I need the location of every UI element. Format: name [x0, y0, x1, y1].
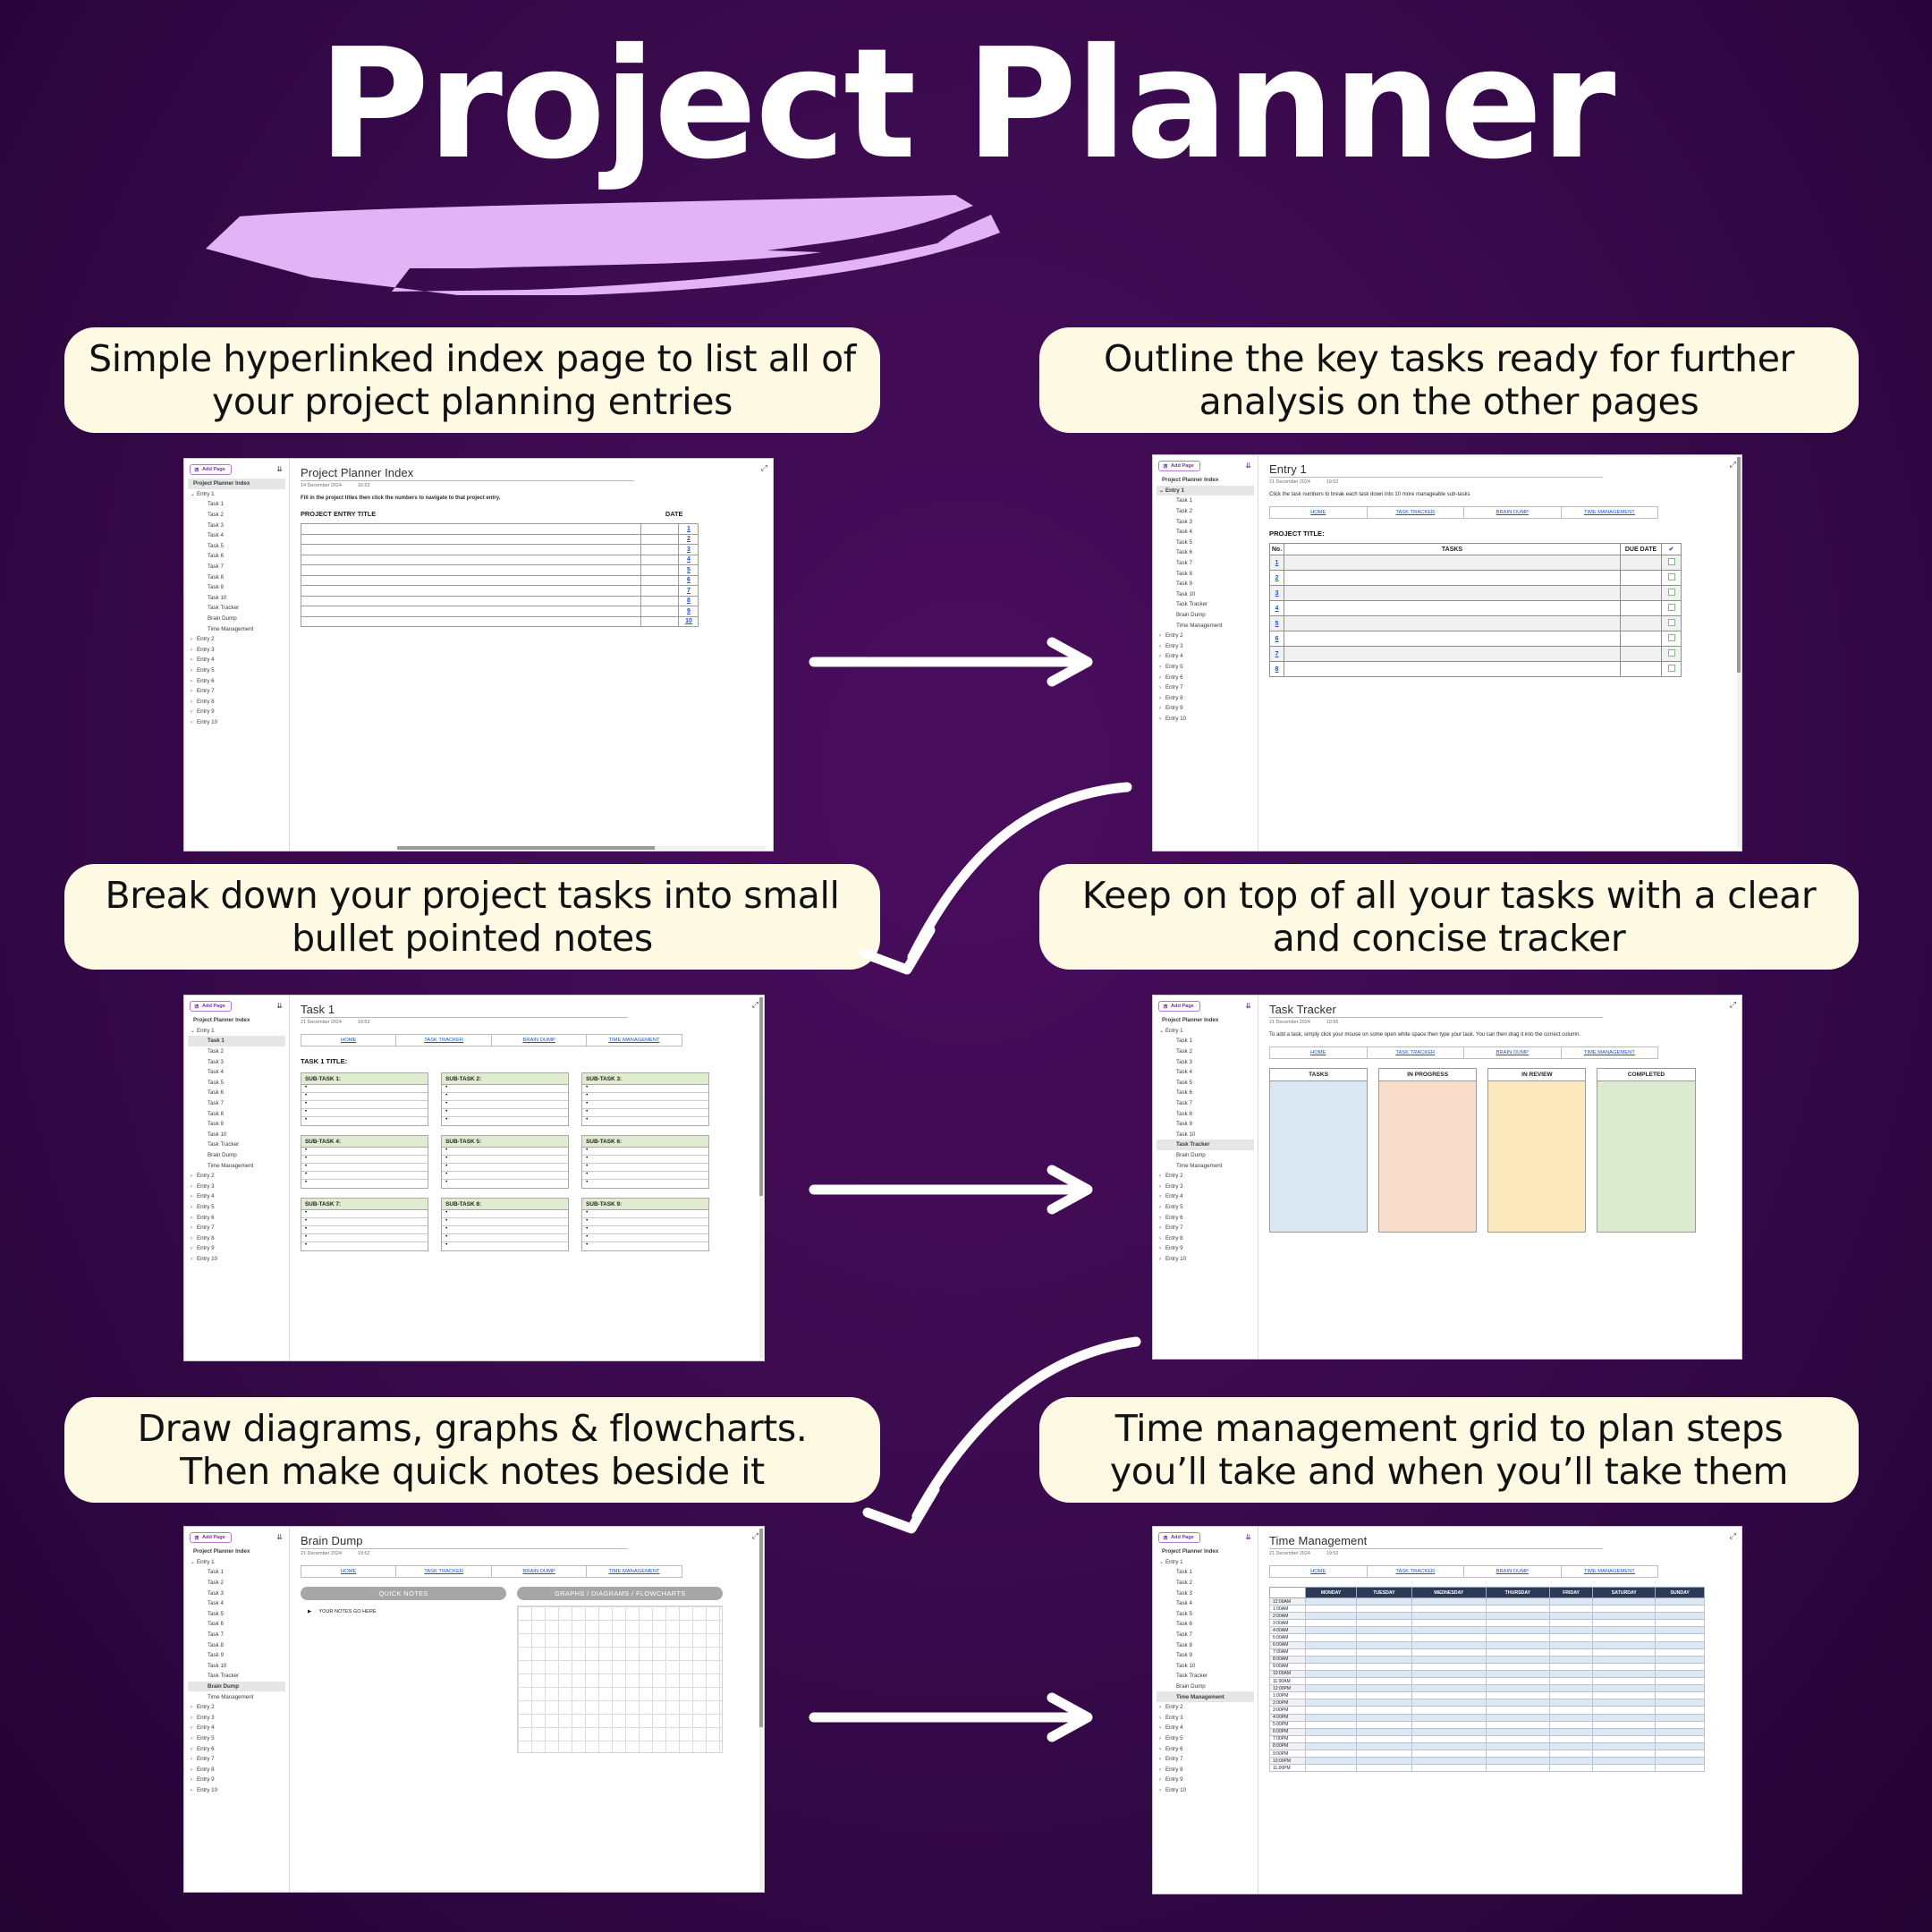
- date-cell[interactable]: [641, 575, 679, 586]
- slot-cell[interactable]: [1593, 1641, 1656, 1648]
- slot-cell[interactable]: [1486, 1765, 1549, 1772]
- slot-cell[interactable]: [1357, 1598, 1411, 1606]
- slot-cell[interactable]: [1486, 1634, 1549, 1641]
- slot-cell[interactable]: [1411, 1634, 1486, 1641]
- sidebar-item-project-planner-index[interactable]: Project Planner Index: [1157, 475, 1254, 486]
- sidebar-item-entry-8[interactable]: ›Entry 8: [1157, 1764, 1254, 1775]
- chevron-icon[interactable]: ›: [191, 636, 197, 642]
- slot-cell[interactable]: [1357, 1742, 1411, 1750]
- vertical-scrollbar[interactable]: [759, 997, 763, 1359]
- sidebar-item-entry-9[interactable]: ›Entry 9: [188, 707, 285, 717]
- slot-cell[interactable]: [1357, 1750, 1411, 1757]
- sidebar-item-task-tracker[interactable]: Task Tracker: [1157, 599, 1254, 610]
- sidebar-item-task-6[interactable]: Task 6: [1157, 547, 1254, 558]
- slot-cell[interactable]: [1411, 1721, 1486, 1728]
- subtask-bullet-row[interactable]: •: [582, 1172, 708, 1180]
- index-link-1[interactable]: 1: [679, 524, 699, 535]
- chevron-icon[interactable]: ›: [191, 1746, 197, 1752]
- slot-cell[interactable]: [1656, 1663, 1705, 1670]
- slot-cell[interactable]: [1549, 1663, 1592, 1670]
- sidebar-item-task-5[interactable]: Task 5: [188, 1609, 285, 1620]
- slot-cell[interactable]: [1656, 1728, 1705, 1735]
- slot-cell[interactable]: [1593, 1627, 1656, 1634]
- sidebar-item-entry-5[interactable]: ›Entry 5: [188, 1733, 285, 1744]
- slot-cell[interactable]: [1357, 1620, 1411, 1627]
- slot-cell[interactable]: [1411, 1707, 1486, 1714]
- subtask-bullet-row[interactable]: •: [301, 1180, 428, 1188]
- date-cell[interactable]: [641, 534, 679, 545]
- sidebar-item-task-3[interactable]: Task 3: [188, 520, 285, 530]
- due-date-cell[interactable]: [1621, 647, 1662, 662]
- slot-cell[interactable]: [1656, 1641, 1705, 1648]
- task-cell[interactable]: [1284, 555, 1621, 571]
- subtask-bullet-row[interactable]: •: [442, 1210, 568, 1218]
- sidebar-item-project-planner-index[interactable]: Project Planner Index: [188, 1546, 285, 1557]
- sidebar-item-task-tracker[interactable]: Task Tracker: [188, 1671, 285, 1682]
- sidebar-item-task-3[interactable]: Task 3: [188, 1588, 285, 1598]
- task-number-link-3[interactable]: 3: [1270, 586, 1284, 601]
- nav-link-brain-dump[interactable]: BRAIN DUMP: [522, 1569, 555, 1574]
- sidebar-item-entry-9[interactable]: ›Entry 9: [1157, 1243, 1254, 1254]
- chevron-icon[interactable]: ›: [191, 699, 197, 705]
- due-date-cell[interactable]: [1621, 662, 1662, 677]
- nav-link-brain-dump[interactable]: BRAIN DUMP: [522, 1038, 555, 1043]
- nav-link-home[interactable]: HOME: [1310, 1050, 1326, 1055]
- subtask-bullet-row[interactable]: •: [442, 1093, 568, 1101]
- subtask-bullet-row[interactable]: •: [301, 1093, 428, 1101]
- slot-cell[interactable]: [1549, 1765, 1592, 1772]
- sidebar-item-entry-10[interactable]: ›Entry 10: [188, 1785, 285, 1796]
- tracker-dropzone[interactable]: [1597, 1081, 1694, 1232]
- expand-icon[interactable]: ⤢: [1730, 1531, 1736, 1541]
- slot-cell[interactable]: [1486, 1707, 1549, 1714]
- subtask-bullet-row[interactable]: •: [301, 1148, 428, 1156]
- table-row[interactable]: 1: [301, 524, 699, 535]
- subtask-bullet-row[interactable]: •: [301, 1172, 428, 1180]
- sidebar-item-entry-9[interactable]: ›Entry 9: [1157, 1775, 1254, 1785]
- task-cell[interactable]: [1284, 571, 1621, 586]
- sidebar-item-entry-4[interactable]: ›Entry 4: [188, 1723, 285, 1733]
- slot-cell[interactable]: [1549, 1728, 1592, 1735]
- add-page-button[interactable]: Add Page: [190, 1532, 232, 1543]
- chevron-icon[interactable]: ›: [191, 688, 197, 694]
- checkbox-cell[interactable]: [1662, 631, 1682, 647]
- slot-cell[interactable]: [1357, 1714, 1411, 1721]
- checkbox[interactable]: [1668, 573, 1675, 580]
- chevron-icon[interactable]: ›: [1159, 1715, 1165, 1721]
- subtask-card[interactable]: SUB-TASK 8:•••••: [441, 1198, 569, 1251]
- nav-link-home[interactable]: HOME: [341, 1569, 356, 1574]
- subtask-bullet-row[interactable]: •: [442, 1234, 568, 1242]
- sidebar-item-entry-3[interactable]: ›Entry 3: [1157, 1182, 1254, 1192]
- chevron-icon[interactable]: ›: [1159, 664, 1165, 670]
- sidebar-item-task-tracker[interactable]: Task Tracker: [1157, 1671, 1254, 1682]
- sidebar-item-brain-dump[interactable]: Brain Dump: [188, 1682, 285, 1692]
- sidebar-item-entry-3[interactable]: ›Entry 3: [1157, 641, 1254, 652]
- subtask-bullet-row[interactable]: •: [442, 1242, 568, 1250]
- slot-cell[interactable]: [1549, 1656, 1592, 1663]
- nav-link-time-management[interactable]: TIME MANAGEMENT: [609, 1569, 660, 1574]
- sidebar-item-entry-10[interactable]: ›Entry 10: [1157, 1785, 1254, 1796]
- time-management-grid[interactable]: MONDAYTUESDAYWEDNESDAYTHURSDAYFRIDAYSATU…: [1269, 1587, 1705, 1772]
- slot-cell[interactable]: [1486, 1648, 1549, 1656]
- slot-cell[interactable]: [1593, 1742, 1656, 1750]
- nav-link-task-tracker[interactable]: TASK TRACKER: [1395, 1050, 1435, 1055]
- subtask-bullet-row[interactable]: •: [582, 1210, 708, 1218]
- slot-cell[interactable]: [1357, 1678, 1411, 1685]
- chevron-icon[interactable]: ⌄: [191, 1028, 197, 1034]
- nav-link-time-management[interactable]: TIME MANAGEMENT: [1584, 510, 1635, 515]
- sidebar-item-task-tracker[interactable]: Task Tracker: [1157, 1140, 1254, 1150]
- subtask-bullet-row[interactable]: •: [301, 1085, 428, 1093]
- sidebar-item-entry-4[interactable]: ›Entry 4: [188, 655, 285, 665]
- table-row[interactable]: 8: [1270, 662, 1682, 677]
- subtask-bullet-row[interactable]: •: [582, 1101, 708, 1109]
- chevron-icon[interactable]: ›: [191, 1735, 197, 1741]
- slot-cell[interactable]: [1306, 1750, 1357, 1757]
- chevron-icon[interactable]: ›: [1159, 705, 1165, 711]
- slot-cell[interactable]: [1486, 1598, 1549, 1606]
- vertical-scrollbar[interactable]: [1737, 457, 1741, 849]
- slot-cell[interactable]: [1486, 1606, 1549, 1613]
- slot-cell[interactable]: [1656, 1742, 1705, 1750]
- subtask-card[interactable]: SUB-TASK 4:•••••: [301, 1135, 428, 1189]
- slot-cell[interactable]: [1357, 1728, 1411, 1735]
- subtask-card[interactable]: SUB-TASK 7:•••••: [301, 1198, 428, 1251]
- expand-icon[interactable]: ⤢: [752, 1000, 758, 1010]
- tracker-column-in-review[interactable]: IN REVIEW: [1487, 1068, 1586, 1233]
- slot-cell[interactable]: [1549, 1620, 1592, 1627]
- nav-link-home[interactable]: HOME: [341, 1038, 356, 1043]
- slot-cell[interactable]: [1411, 1648, 1486, 1656]
- slot-cell[interactable]: [1357, 1692, 1411, 1699]
- sidebar-item-task-tracker[interactable]: Task Tracker: [188, 603, 285, 614]
- nav-cell[interactable]: TIME MANAGEMENT: [1562, 507, 1658, 518]
- slot-cell[interactable]: [1593, 1598, 1656, 1606]
- sidebar-item-task-7[interactable]: Task 7: [1157, 1630, 1254, 1640]
- slot-cell[interactable]: [1593, 1728, 1656, 1735]
- sidebar-item-entry-6[interactable]: ›Entry 6: [1157, 1212, 1254, 1223]
- sidebar-item-task-7[interactable]: Task 7: [1157, 558, 1254, 569]
- slot-cell[interactable]: [1357, 1721, 1411, 1728]
- date-cell[interactable]: [641, 596, 679, 606]
- slot-cell[interactable]: [1549, 1735, 1592, 1742]
- slot-cell[interactable]: [1411, 1714, 1486, 1721]
- slot-cell[interactable]: [1357, 1663, 1411, 1670]
- nav-cell[interactable]: BRAIN DUMP: [1464, 1047, 1562, 1058]
- sidebar-item-entry-6[interactable]: ›Entry 6: [188, 1212, 285, 1223]
- slot-cell[interactable]: [1411, 1692, 1486, 1699]
- slot-cell[interactable]: [1486, 1670, 1549, 1677]
- subtask-bullet-row[interactable]: •: [582, 1109, 708, 1117]
- subtask-bullet-row[interactable]: •: [301, 1109, 428, 1117]
- subtask-bullet-row[interactable]: •: [582, 1117, 708, 1125]
- sidebar-item-entry-2[interactable]: ›Entry 2: [1157, 1702, 1254, 1713]
- chevron-icon[interactable]: ›: [1159, 1704, 1165, 1710]
- subtask-bullet-row[interactable]: •: [301, 1218, 428, 1226]
- nav-link-task-tracker[interactable]: TASK TRACKER: [424, 1038, 463, 1043]
- slot-cell[interactable]: [1357, 1606, 1411, 1613]
- slot-cell[interactable]: [1411, 1735, 1486, 1742]
- tracker-dropzone[interactable]: [1270, 1081, 1367, 1232]
- subtask-bullet-row[interactable]: •: [301, 1210, 428, 1218]
- sidebar-item-entry-4[interactable]: ›Entry 4: [1157, 1723, 1254, 1733]
- sort-icon[interactable]: ⇊: [276, 1003, 283, 1010]
- slot-cell[interactable]: [1593, 1613, 1656, 1620]
- slot-cell[interactable]: [1549, 1678, 1592, 1685]
- nav-cell[interactable]: TIME MANAGEMENT: [587, 1035, 681, 1046]
- nav-link-brain-dump[interactable]: BRAIN DUMP: [1496, 1050, 1529, 1055]
- chevron-icon[interactable]: ›: [191, 678, 197, 684]
- task-cell[interactable]: [1284, 601, 1621, 616]
- slot-cell[interactable]: [1593, 1678, 1656, 1685]
- subtask-card[interactable]: SUB-TASK 6:•••••: [581, 1135, 709, 1189]
- slot-cell[interactable]: [1357, 1699, 1411, 1707]
- slot-cell[interactable]: [1486, 1678, 1549, 1685]
- slot-cell[interactable]: [1357, 1670, 1411, 1677]
- add-page-button[interactable]: Add Page: [190, 1001, 232, 1012]
- nav-link-time-management[interactable]: TIME MANAGEMENT: [1584, 1569, 1635, 1574]
- nav-cell[interactable]: TIME MANAGEMENT: [1562, 1047, 1658, 1058]
- sidebar-item-task-1[interactable]: Task 1: [188, 499, 285, 510]
- sidebar-item-entry-1[interactable]: ⌄Entry 1: [188, 489, 285, 500]
- index-link-9[interactable]: 9: [679, 606, 699, 617]
- slot-cell[interactable]: [1357, 1648, 1411, 1656]
- table-row[interactable]: 6: [1270, 631, 1682, 647]
- subtask-bullet-row[interactable]: •: [582, 1226, 708, 1234]
- slot-cell[interactable]: [1306, 1685, 1357, 1692]
- chevron-icon[interactable]: ›: [191, 647, 197, 653]
- sidebar-item-entry-10[interactable]: ›Entry 10: [1157, 714, 1254, 724]
- table-row[interactable]: 9: [301, 606, 699, 617]
- slot-cell[interactable]: [1656, 1598, 1705, 1606]
- sidebar-item-entry-7[interactable]: ›Entry 7: [1157, 1754, 1254, 1765]
- sidebar-item-entry-2[interactable]: ›Entry 2: [188, 1171, 285, 1182]
- table-row[interactable]: 2: [1270, 571, 1682, 586]
- slot-cell[interactable]: [1549, 1742, 1592, 1750]
- tracker-dropzone[interactable]: [1488, 1081, 1585, 1232]
- slot-cell[interactable]: [1306, 1714, 1357, 1721]
- index-link-6[interactable]: 6: [679, 575, 699, 586]
- index-link-8[interactable]: 8: [679, 596, 699, 606]
- sidebar-item-brain-dump[interactable]: Brain Dump: [188, 614, 285, 624]
- slot-cell[interactable]: [1593, 1663, 1656, 1670]
- sidebar-item-task-7[interactable]: Task 7: [188, 1630, 285, 1640]
- sidebar-braindump[interactable]: Add Page ⇊ Project Planner Index⌄Entry 1…: [184, 1527, 290, 1892]
- task-number-link-6[interactable]: 6: [1270, 631, 1284, 647]
- checkbox[interactable]: [1668, 604, 1675, 611]
- slot-cell[interactable]: [1306, 1735, 1357, 1742]
- task-cell[interactable]: [1284, 631, 1621, 647]
- sidebar-item-task-2[interactable]: Task 2: [188, 1578, 285, 1589]
- window-task-1[interactable]: Add Page ⇊ Project Planner Index⌄Entry 1…: [183, 995, 765, 1361]
- sidebar-item-entry-5[interactable]: ›Entry 5: [1157, 1202, 1254, 1213]
- expand-icon[interactable]: ⤢: [761, 463, 767, 473]
- sidebar-item-task-8[interactable]: Task 8: [1157, 1640, 1254, 1650]
- slot-cell[interactable]: [1306, 1707, 1357, 1714]
- subtask-bullet-row[interactable]: •: [582, 1180, 708, 1188]
- slot-cell[interactable]: [1486, 1692, 1549, 1699]
- table-row[interactable]: 3: [1270, 586, 1682, 601]
- chevron-icon[interactable]: ›: [1159, 1756, 1165, 1762]
- due-date-cell[interactable]: [1621, 616, 1662, 631]
- subtask-bullet-row[interactable]: •: [582, 1148, 708, 1156]
- due-date-cell[interactable]: [1621, 555, 1662, 571]
- sidebar-item-task-tracker[interactable]: Task Tracker: [188, 1140, 285, 1150]
- subtask-bullet-row[interactable]: •: [301, 1226, 428, 1234]
- subtask-bullet-row[interactable]: •: [442, 1156, 568, 1164]
- chevron-icon[interactable]: ›: [191, 1224, 197, 1231]
- subtask-bullet-row[interactable]: •: [301, 1156, 428, 1164]
- chevron-icon[interactable]: ›: [191, 657, 197, 663]
- slot-cell[interactable]: [1306, 1692, 1357, 1699]
- sidebar-item-task-7[interactable]: Task 7: [188, 562, 285, 572]
- slot-cell[interactable]: [1486, 1750, 1549, 1757]
- nav-link-task-tracker[interactable]: TASK TRACKER: [1395, 510, 1435, 515]
- checkbox[interactable]: [1668, 589, 1675, 596]
- expand-icon[interactable]: ⤢: [752, 1531, 758, 1541]
- checkbox-cell[interactable]: [1662, 555, 1682, 571]
- slot-cell[interactable]: [1486, 1742, 1549, 1750]
- project-title-cell[interactable]: [301, 524, 641, 535]
- slot-cell[interactable]: [1593, 1758, 1656, 1765]
- subtask-card[interactable]: SUB-TASK 9:•••••: [581, 1198, 709, 1251]
- subtask-bullet-row[interactable]: •: [301, 1117, 428, 1125]
- subtask-bullet-row[interactable]: •: [301, 1242, 428, 1250]
- sidebar-item-entry-2[interactable]: ›Entry 2: [1157, 1171, 1254, 1182]
- nav-links-bar[interactable]: HOMETASK TRACKERBRAIN DUMPTIME MANAGEMEN…: [301, 1034, 682, 1046]
- sidebar-item-entry-5[interactable]: ›Entry 5: [1157, 662, 1254, 673]
- add-page-button[interactable]: Add Page: [190, 464, 232, 475]
- sort-icon[interactable]: ⇊: [1245, 1003, 1251, 1010]
- slot-cell[interactable]: [1411, 1620, 1486, 1627]
- chevron-icon[interactable]: ›: [1159, 1746, 1165, 1752]
- slot-cell[interactable]: [1656, 1606, 1705, 1613]
- chevron-icon[interactable]: ›: [1159, 1787, 1165, 1793]
- slot-cell[interactable]: [1306, 1620, 1357, 1627]
- slot-cell[interactable]: [1411, 1699, 1486, 1707]
- subtask-bullet-row[interactable]: •: [582, 1242, 708, 1250]
- sidebar-item-entry-4[interactable]: ›Entry 4: [1157, 651, 1254, 662]
- slot-cell[interactable]: [1306, 1606, 1357, 1613]
- slot-cell[interactable]: [1306, 1758, 1357, 1765]
- slot-cell[interactable]: [1411, 1663, 1486, 1670]
- subtask-bullet-row[interactable]: •: [301, 1101, 428, 1109]
- chevron-icon[interactable]: ›: [191, 1704, 197, 1710]
- slot-cell[interactable]: [1656, 1758, 1705, 1765]
- chevron-icon[interactable]: ›: [191, 1756, 197, 1762]
- sidebar-item-entry-7[interactable]: ›Entry 7: [188, 1223, 285, 1233]
- sidebar-task[interactable]: Add Page ⇊ Project Planner Index⌄Entry 1…: [184, 996, 290, 1360]
- slot-cell[interactable]: [1486, 1620, 1549, 1627]
- nav-cell[interactable]: HOME: [1270, 1047, 1368, 1058]
- slot-cell[interactable]: [1656, 1656, 1705, 1663]
- chevron-icon[interactable]: ›: [1159, 643, 1165, 649]
- sidebar-item-time-management[interactable]: Time Management: [188, 623, 285, 634]
- slot-cell[interactable]: [1306, 1765, 1357, 1772]
- sidebar-item-task-5[interactable]: Task 5: [188, 1078, 285, 1089]
- slot-cell[interactable]: [1549, 1685, 1592, 1692]
- chevron-icon[interactable]: ›: [191, 1193, 197, 1199]
- slot-cell[interactable]: [1486, 1758, 1549, 1765]
- slot-cell[interactable]: [1357, 1613, 1411, 1620]
- slot-cell[interactable]: [1549, 1699, 1592, 1707]
- expand-icon[interactable]: ⤢: [1730, 460, 1736, 470]
- sidebar-item-task-10[interactable]: Task 10: [1157, 589, 1254, 600]
- sort-icon[interactable]: ⇊: [1245, 1534, 1251, 1541]
- sidebar-item-entry-10[interactable]: ›Entry 10: [1157, 1254, 1254, 1265]
- sidebar-item-entry-4[interactable]: ›Entry 4: [188, 1191, 285, 1202]
- sidebar-item-entry-3[interactable]: ›Entry 3: [188, 1713, 285, 1724]
- slot-cell[interactable]: [1486, 1728, 1549, 1735]
- add-page-button[interactable]: Add Page: [1158, 461, 1200, 471]
- sidebar-item-entry-6[interactable]: ›Entry 6: [188, 675, 285, 686]
- sidebar-item-task-1[interactable]: Task 1: [188, 1036, 285, 1046]
- project-title-cell[interactable]: [301, 565, 641, 576]
- table-row[interactable]: 6: [301, 575, 699, 586]
- chevron-icon[interactable]: ⌄: [1159, 487, 1165, 494]
- slot-cell[interactable]: [1486, 1627, 1549, 1634]
- due-date-cell[interactable]: [1621, 586, 1662, 601]
- subtask-bullet-row[interactable]: •: [442, 1148, 568, 1156]
- sidebar-item-task-9[interactable]: Task 9: [188, 1119, 285, 1130]
- slot-cell[interactable]: [1549, 1598, 1592, 1606]
- slot-cell[interactable]: [1593, 1699, 1656, 1707]
- sidebar-item-entry-3[interactable]: ›Entry 3: [188, 645, 285, 656]
- sidebar-item-entry-4[interactable]: ›Entry 4: [1157, 1191, 1254, 1202]
- chevron-icon[interactable]: ›: [191, 1767, 197, 1773]
- chevron-icon[interactable]: ›: [1159, 1767, 1165, 1773]
- slot-cell[interactable]: [1357, 1758, 1411, 1765]
- table-row[interactable]: 8: [301, 596, 699, 606]
- index-link-4[interactable]: 4: [679, 555, 699, 565]
- slot-cell[interactable]: [1593, 1656, 1656, 1663]
- nav-cell[interactable]: TIME MANAGEMENT: [587, 1566, 681, 1577]
- index-link-3[interactable]: 3: [679, 545, 699, 555]
- chevron-icon[interactable]: ⌄: [191, 491, 197, 497]
- tracker-column-tasks[interactable]: TASKS: [1269, 1068, 1368, 1233]
- sidebar-item-entry-5[interactable]: ›Entry 5: [1157, 1733, 1254, 1744]
- sidebar-item-brain-dump[interactable]: Brain Dump: [1157, 610, 1254, 621]
- project-title-cell[interactable]: [301, 606, 641, 617]
- sort-icon[interactable]: ⇊: [1245, 462, 1251, 470]
- sidebar-item-entry-8[interactable]: ›Entry 8: [188, 1233, 285, 1243]
- slot-cell[interactable]: [1306, 1728, 1357, 1735]
- chevron-icon[interactable]: ›: [1159, 716, 1165, 722]
- sidebar-item-task-4[interactable]: Task 4: [1157, 527, 1254, 538]
- slot-cell[interactable]: [1306, 1634, 1357, 1641]
- chevron-icon[interactable]: ›: [1159, 1735, 1165, 1741]
- sidebar-item-entry-3[interactable]: ›Entry 3: [1157, 1713, 1254, 1724]
- sidebar-item-entry-1[interactable]: ⌄Entry 1: [1157, 486, 1254, 496]
- nav-cell[interactable]: HOME: [301, 1035, 396, 1046]
- slot-cell[interactable]: [1593, 1750, 1656, 1757]
- project-title-cell[interactable]: [301, 575, 641, 586]
- sidebar-item-entry-7[interactable]: ›Entry 7: [1157, 682, 1254, 693]
- subtask-bullet-row[interactable]: •: [582, 1156, 708, 1164]
- sidebar-item-time-management[interactable]: Time Management: [1157, 1691, 1254, 1702]
- slot-cell[interactable]: [1549, 1707, 1592, 1714]
- chevron-icon[interactable]: ›: [1159, 653, 1165, 659]
- subtask-bullet-row[interactable]: •: [442, 1101, 568, 1109]
- tracker-column-completed[interactable]: COMPLETED: [1597, 1068, 1695, 1233]
- slot-cell[interactable]: [1656, 1685, 1705, 1692]
- slot-cell[interactable]: [1411, 1606, 1486, 1613]
- sidebar-item-task-5[interactable]: Task 5: [1157, 1078, 1254, 1089]
- slot-cell[interactable]: [1656, 1634, 1705, 1641]
- slot-cell[interactable]: [1656, 1721, 1705, 1728]
- chevron-icon[interactable]: ›: [1159, 1183, 1165, 1190]
